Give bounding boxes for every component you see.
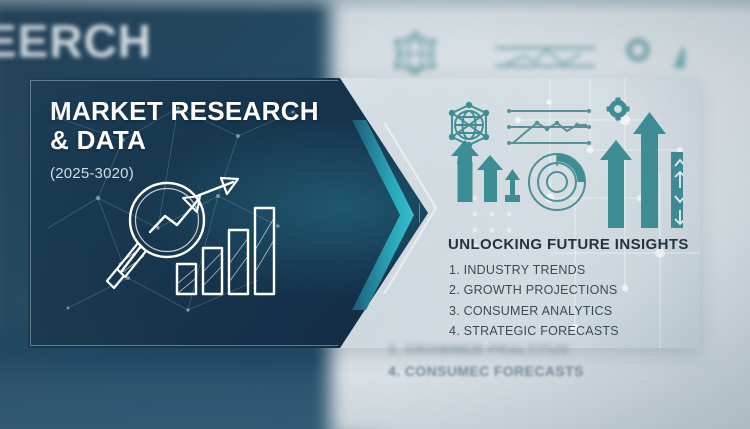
page-title-line-1: MARKET RESEARCH bbox=[50, 97, 319, 126]
arrow-up-tall-icon bbox=[600, 140, 632, 168]
arrow-up-taller-icon bbox=[633, 112, 666, 142]
panel-heading: UNLOCKING FUTURE INSIGHTS bbox=[448, 236, 689, 253]
globe-network-icon bbox=[449, 102, 489, 148]
page-title: MARKET RESEARCH & DATA bbox=[50, 97, 319, 155]
list-item: 3. CONSUMER ANALYTICS bbox=[449, 301, 619, 321]
ghost-list-line-3: 3. GROWMER PRALTITUS bbox=[388, 341, 569, 357]
vertical-arrow-strip-icon bbox=[671, 152, 683, 228]
line-chart-icon bbox=[507, 109, 591, 145]
ghost-list-line-4: 4. CONSUMEC FORECASTS bbox=[388, 363, 584, 379]
arrow-up-large-icon bbox=[451, 140, 479, 164]
poster-canvas: EERCH bbox=[0, 0, 750, 429]
ghost-icons-row bbox=[385, 20, 685, 82]
donut-chart-icon bbox=[529, 154, 585, 210]
list-item: 2. GROWTH PROJECTIONS bbox=[449, 280, 619, 300]
panel-icon-cluster bbox=[443, 96, 683, 228]
magnifier-bar-chart-growth-icon bbox=[105, 168, 295, 308]
arrow-up-small-icon bbox=[505, 169, 520, 184]
list-item: 4. STRATEGIC FORECASTS bbox=[449, 321, 619, 341]
background-ghost-title: EERCH bbox=[0, 14, 152, 68]
list-item: 1. INDUSTRY TRENDS bbox=[449, 260, 619, 280]
page-title-line-2: & DATA bbox=[50, 126, 319, 155]
card-chevron-outline bbox=[380, 118, 440, 298]
gear-icon bbox=[612, 103, 625, 116]
gear-teeth-icon bbox=[607, 98, 630, 121]
arrow-up-medium-icon bbox=[477, 155, 503, 176]
insights-list: 1. INDUSTRY TRENDS 2. GROWTH PROJECTIONS… bbox=[449, 260, 619, 341]
